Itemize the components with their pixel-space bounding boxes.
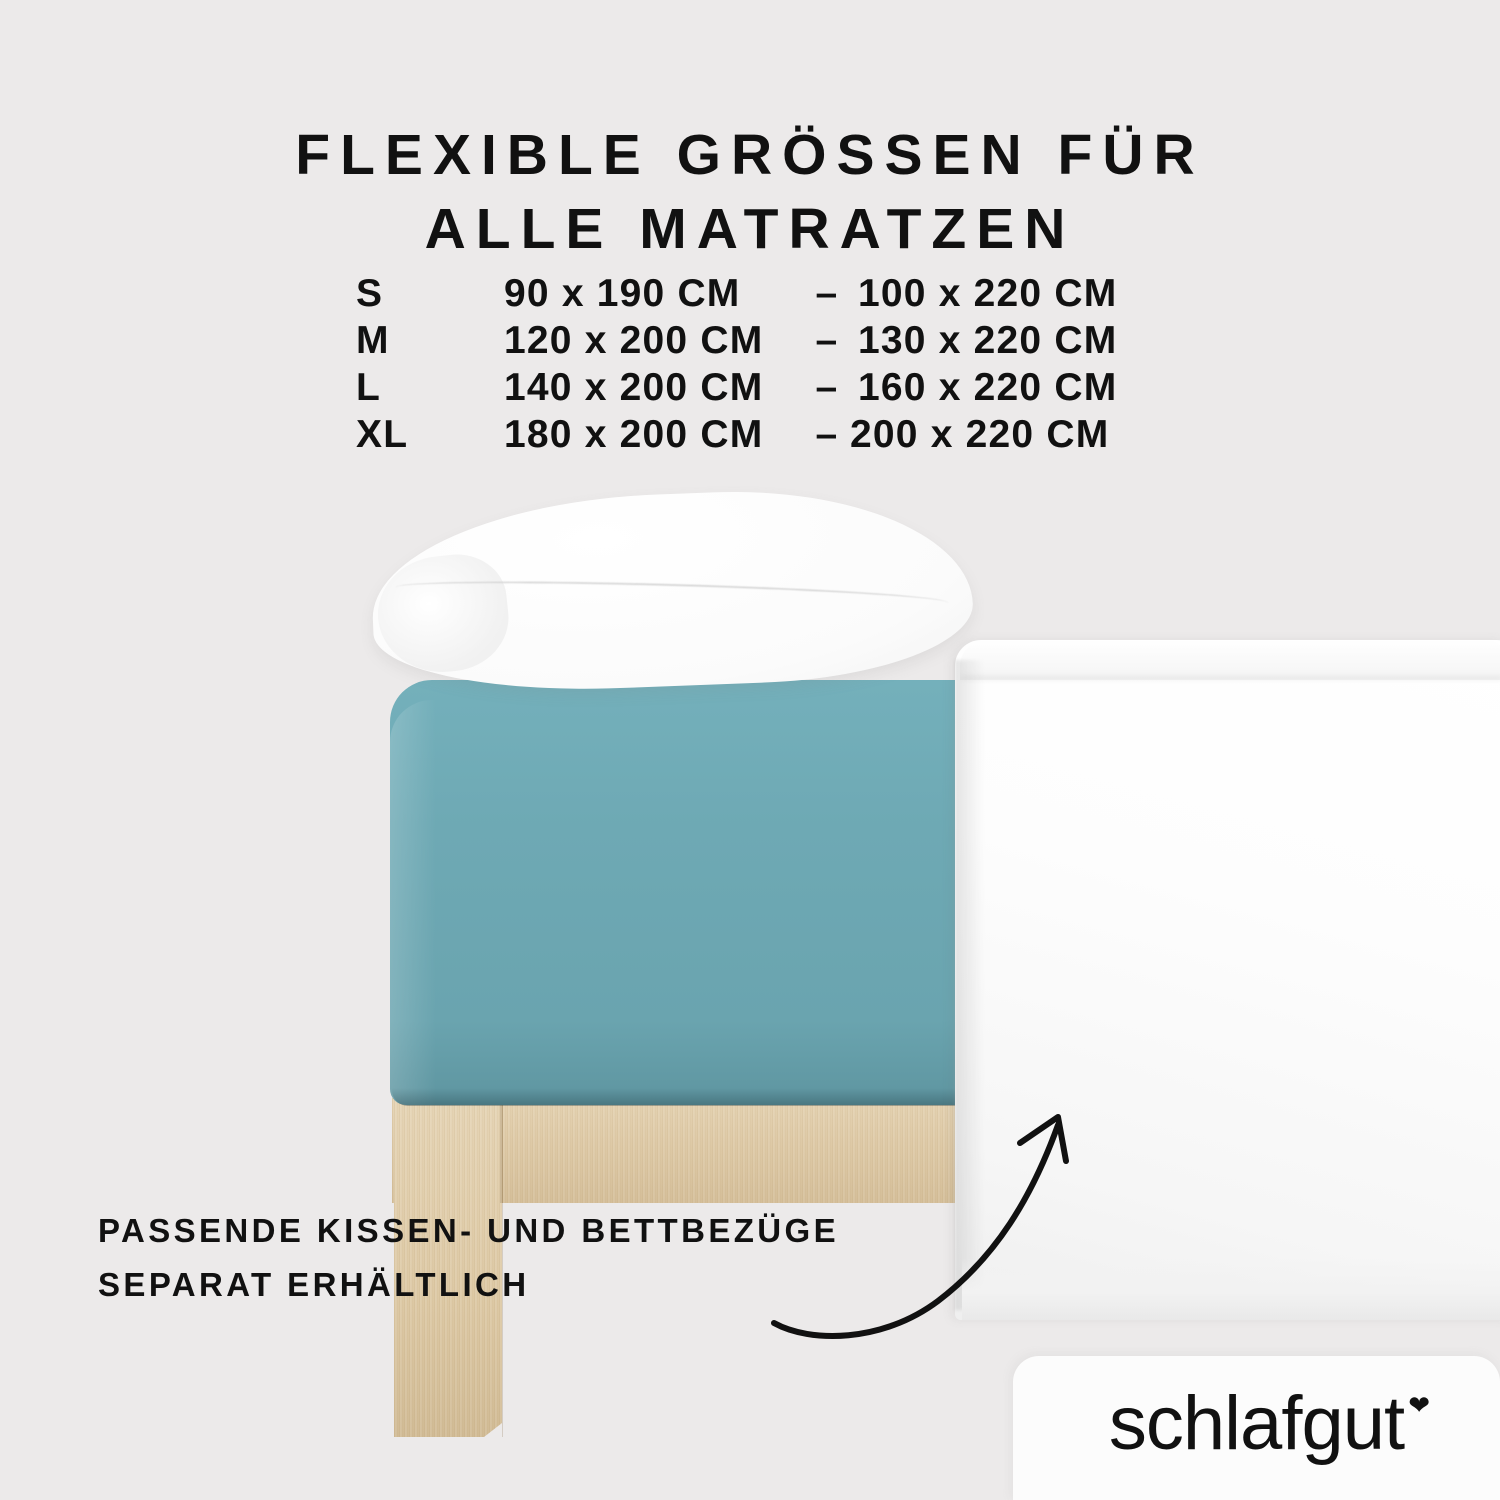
size-min: 90 x 190 CM [504, 272, 796, 316]
logo-wrap: schlafgut ❤ [1109, 1386, 1404, 1462]
table-row: XL 180 x 200 CM – 200 x 220 CM [356, 413, 1186, 460]
size-max: 100 x 220 CM [858, 272, 1186, 316]
page-title: FLEXIBLE GRÖSSEN FÜR ALLE MATRATZEN [0, 118, 1500, 266]
size-separator: – [796, 272, 858, 316]
size-label: L [356, 366, 504, 410]
size-separator: – [796, 319, 858, 363]
table-row: M 120 x 200 CM – 130 x 220 CM [356, 319, 1186, 366]
size-min: 140 x 200 CM [504, 366, 796, 410]
size-table: S 90 x 190 CM – 100 x 220 CM M 120 x 200… [356, 272, 1186, 460]
size-separator: – [796, 366, 858, 410]
brand-name: schlafgut [1109, 1381, 1404, 1466]
size-label: XL [356, 413, 504, 457]
bed-frame-seam [500, 1098, 503, 1203]
product-infographic: FLEXIBLE GRÖSSEN FÜR ALLE MATRATZEN S 90… [0, 0, 1500, 1500]
size-max: 130 x 220 CM [858, 319, 1186, 363]
fitted-sheet-highlight [390, 700, 436, 1105]
size-min: 120 x 200 CM [504, 319, 796, 363]
teal-fitted-sheet [390, 680, 988, 1105]
size-label: S [356, 272, 504, 316]
duvet-top-fold [960, 640, 1500, 680]
table-row: L 140 x 200 CM – 160 x 220 CM [356, 366, 1186, 413]
curved-arrow-up-right-icon [770, 1095, 1110, 1345]
size-separator: – [804, 413, 850, 457]
brand-logo-badge: schlafgut ❤ [1013, 1356, 1500, 1500]
heart-icon: ❤ [1408, 1392, 1430, 1418]
size-label: M [356, 319, 504, 363]
size-max: 200 x 220 CM [850, 413, 1186, 457]
size-max: 160 x 220 CM [858, 366, 1186, 410]
size-min: 180 x 200 CM [504, 413, 804, 457]
duvet-crease [962, 676, 1500, 682]
table-row: S 90 x 190 CM – 100 x 220 CM [356, 272, 1186, 319]
